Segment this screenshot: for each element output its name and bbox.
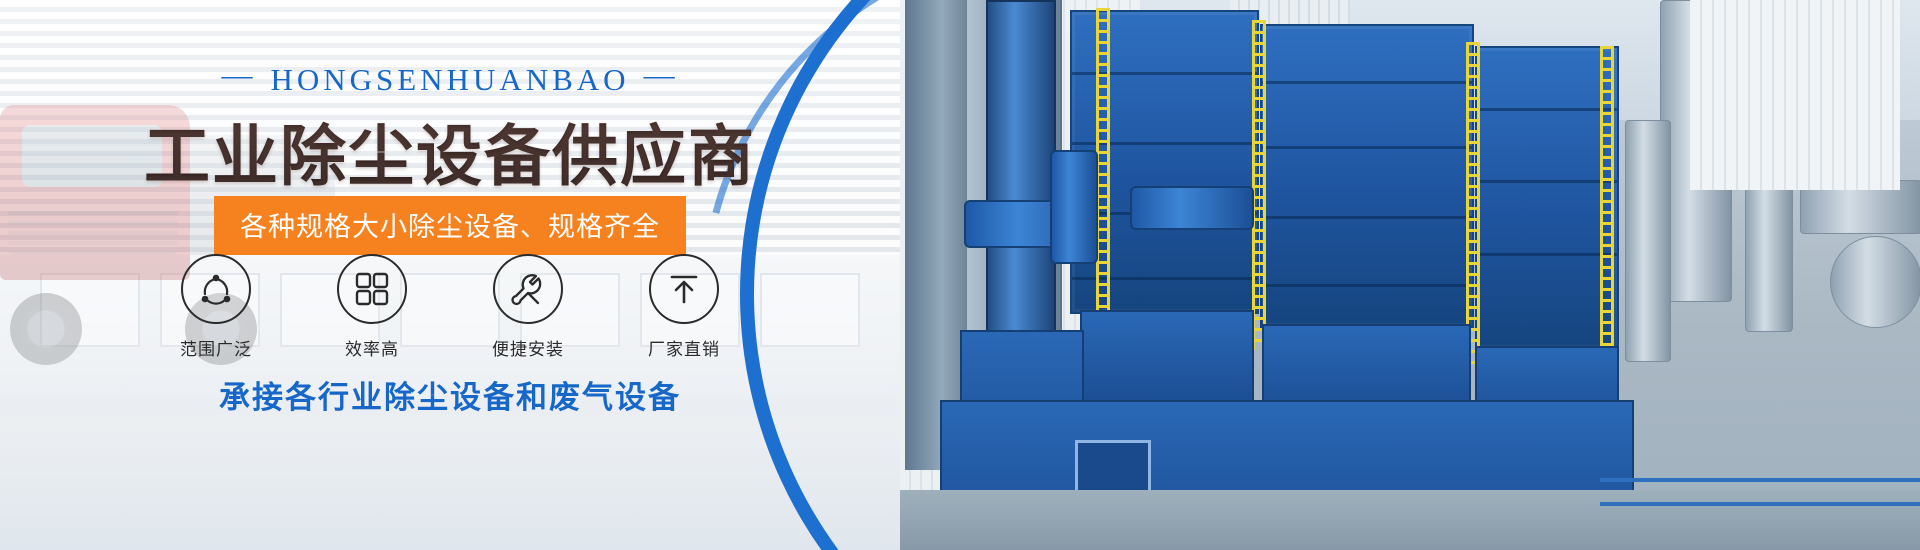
page-title: 工业除尘设备供应商 [0, 103, 900, 199]
photo-baghouse-module [1260, 24, 1474, 328]
eyebrow-dash-right: — [630, 57, 693, 93]
photo-railing [1600, 502, 1920, 506]
upload-arrow-icon [649, 254, 719, 324]
photo-ground [900, 490, 1920, 550]
feature-item-installation: 便捷安装 [473, 254, 583, 360]
feature-label: 范围广泛 [161, 335, 271, 360]
grid-squares-icon [337, 254, 407, 324]
photo-module-rib [1262, 216, 1472, 219]
photo-railing [1600, 478, 1920, 482]
share-network-icon [181, 254, 251, 324]
photo-module-rib [1477, 180, 1617, 183]
eyebrow-dash-left: — [207, 57, 270, 93]
dust-collector-photo [900, 0, 1920, 550]
photo-white-shed [1690, 0, 1900, 190]
photo-access-ladder [1096, 8, 1110, 338]
feature-list: 范围广泛 效率高 [0, 254, 900, 360]
photo-module-rib [1477, 108, 1617, 111]
photo-exhaust-stack [986, 0, 1056, 334]
photo-hopper [1080, 310, 1254, 409]
banner-tagline: 承接各行业除尘设备和废气设备 [0, 372, 900, 417]
photo-access-ladder [1600, 46, 1614, 346]
photo-baghouse-module [1475, 46, 1619, 350]
photo-module-rib [1477, 253, 1617, 256]
hero-banner: —HONGSENHUANBAO— 工业除尘设备供应商 各种规格大小除尘设备、规格… [0, 0, 1920, 550]
photo-grey-pipe [1625, 120, 1671, 362]
brand-eyebrow: —HONGSENHUANBAO— [0, 62, 900, 98]
photo-duct [1130, 186, 1254, 230]
photo-duct-riser [1050, 150, 1098, 264]
subtitle-badge: 各种规格大小除尘设备、规格齐全 [214, 196, 686, 255]
feature-label: 效率高 [317, 335, 427, 360]
photo-module-rib [1262, 284, 1472, 287]
eyebrow-text: HONGSENHUANBAO [270, 62, 629, 97]
feature-label: 厂家直销 [629, 335, 739, 360]
photo-cyclone [1830, 236, 1920, 328]
photo-module-rib [1262, 146, 1472, 149]
feature-item-efficiency: 效率高 [317, 254, 427, 360]
banner-content: —HONGSENHUANBAO— 工业除尘设备供应商 各种规格大小除尘设备、规格… [0, 0, 900, 550]
feature-item-coverage: 范围广泛 [161, 254, 271, 360]
photo-module-rib [1262, 81, 1472, 84]
photo-access-ladder [1466, 42, 1480, 372]
photo-access-ladder [1252, 20, 1266, 350]
wrench-icon [493, 254, 563, 324]
feature-item-factory-direct: 厂家直销 [629, 254, 739, 360]
feature-label: 便捷安装 [473, 335, 583, 360]
